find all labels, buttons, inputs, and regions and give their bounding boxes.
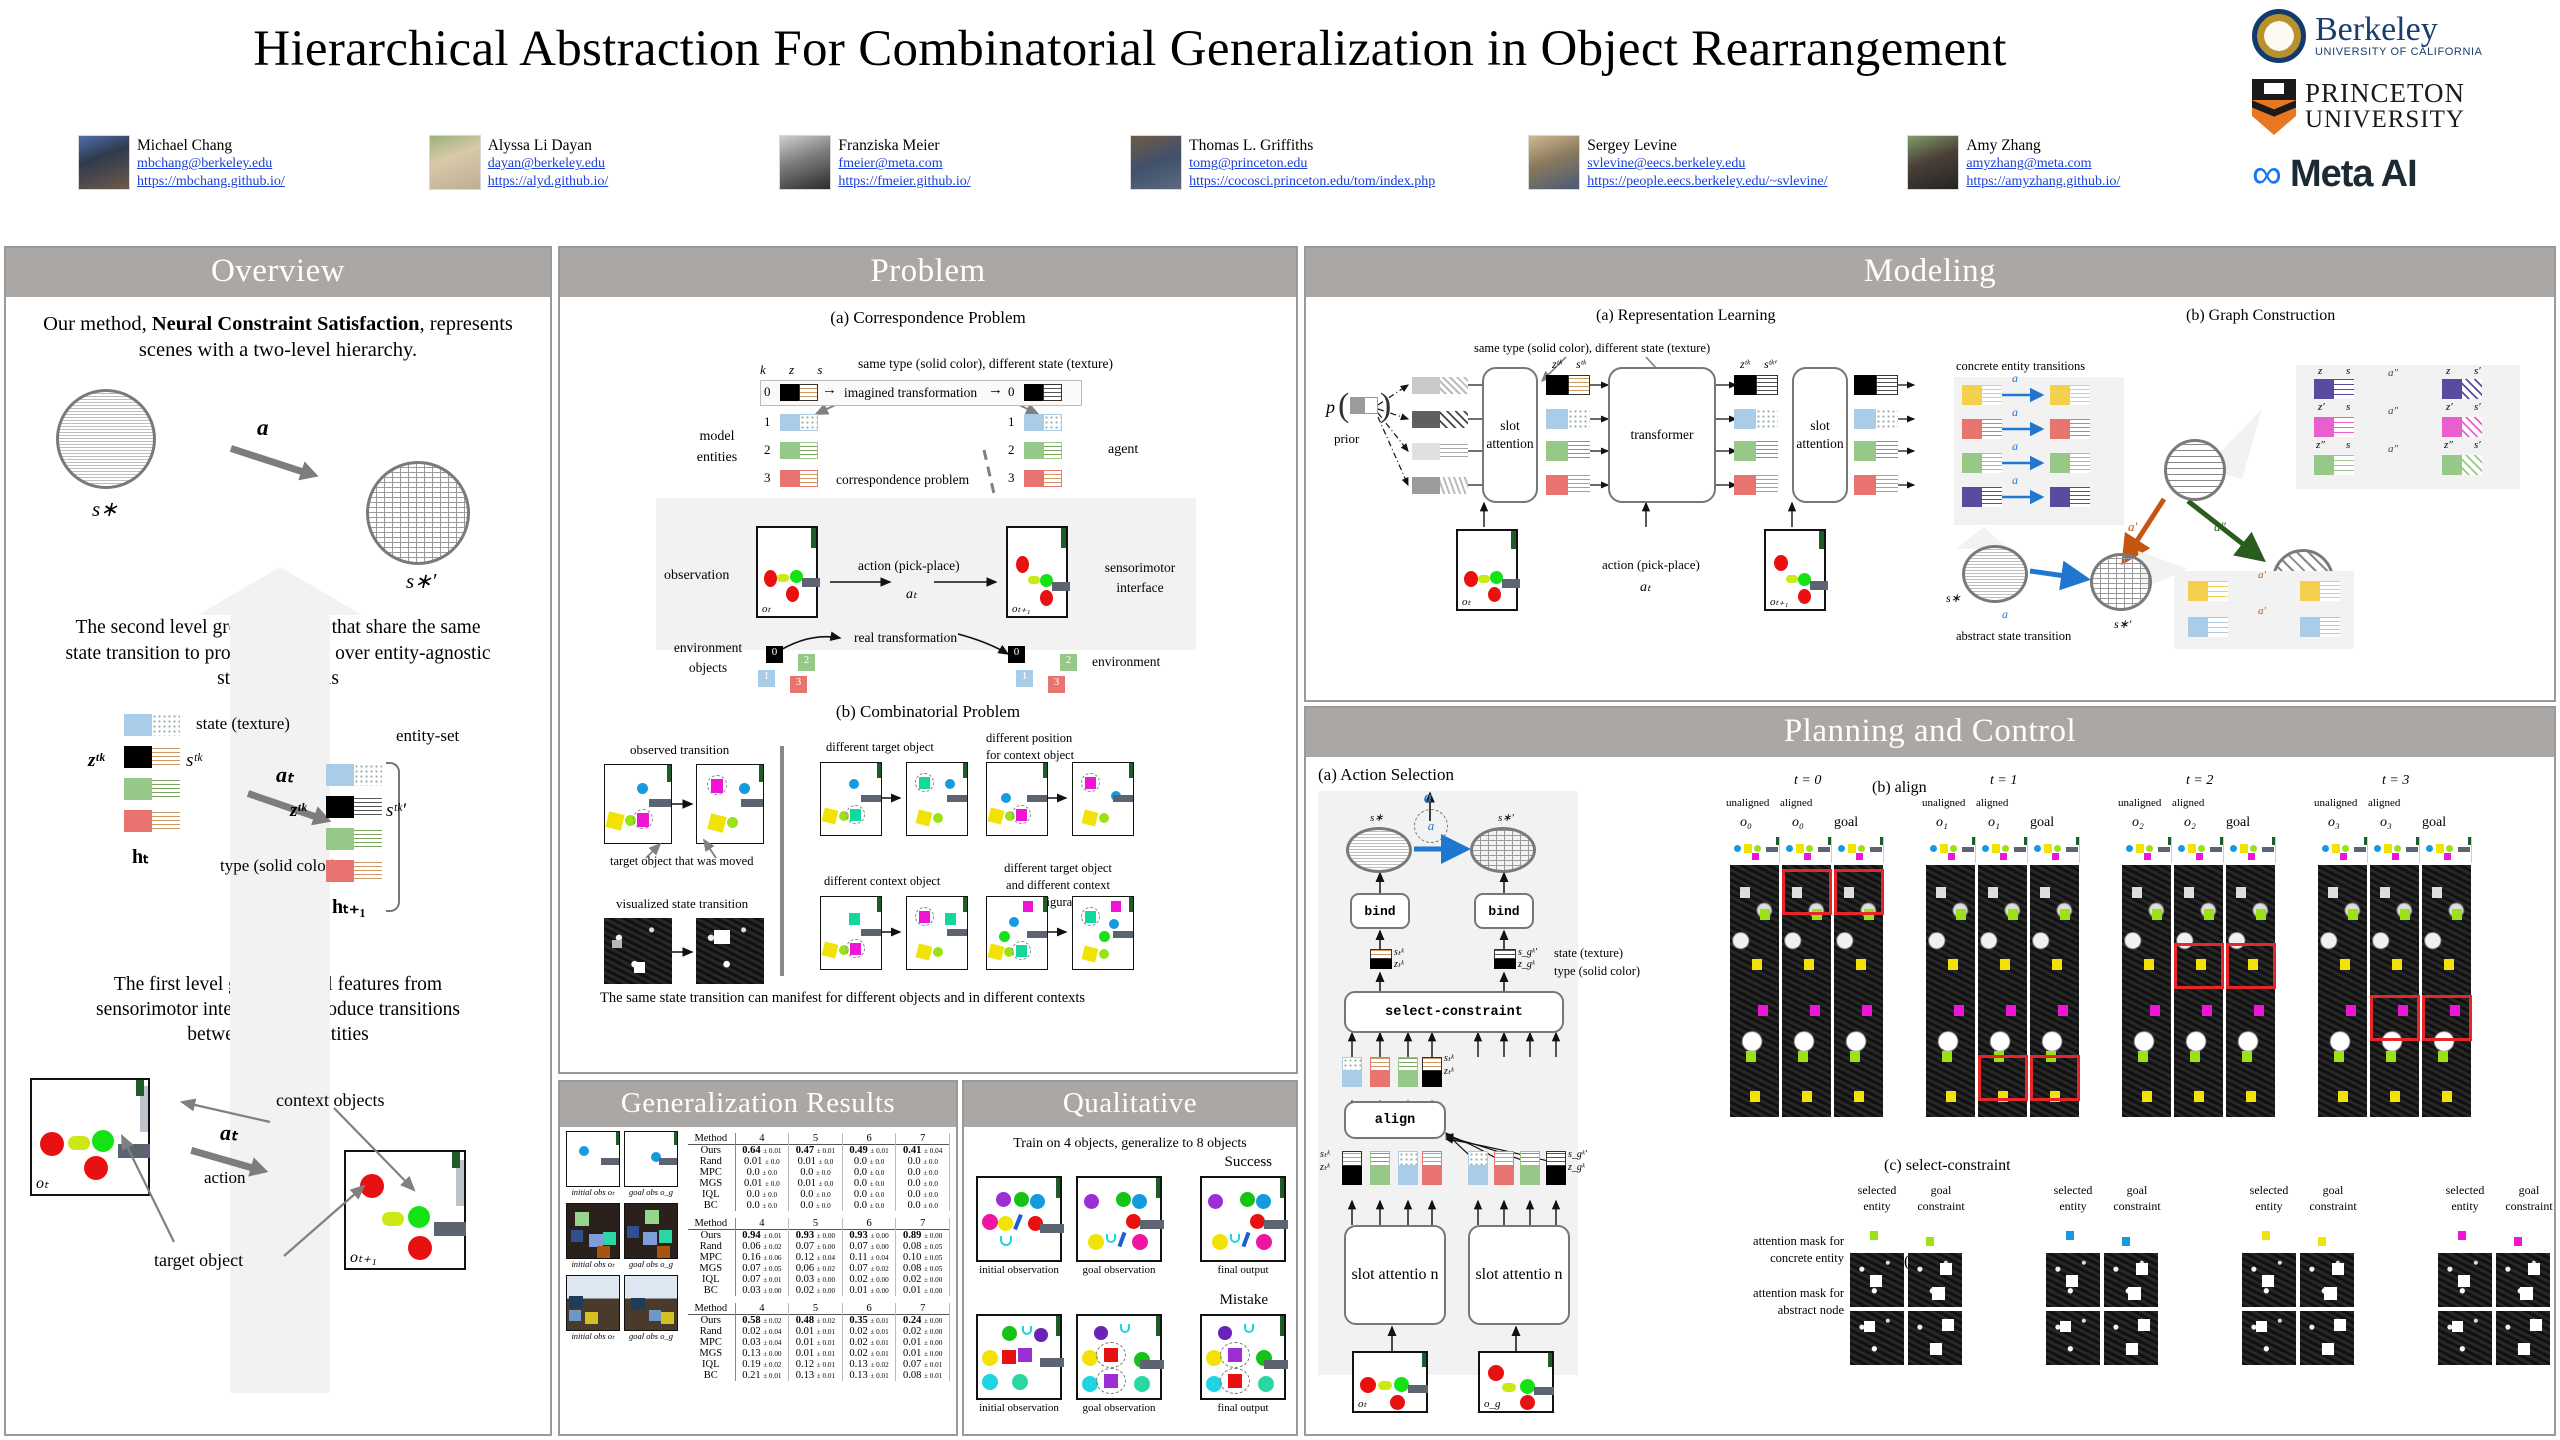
author-email-link[interactable]: fmeier@meta.com xyxy=(838,155,970,173)
object-red xyxy=(1774,555,1788,571)
scene-mistake-final xyxy=(1200,1314,1286,1400)
entity-chip-green-m3 xyxy=(1854,441,1898,461)
mini-scene-selected xyxy=(2242,1227,2296,1249)
scene-success-initial xyxy=(976,1176,1062,1262)
module-slot-attention-plan-1: slot attentio n xyxy=(1344,1225,1446,1325)
object-blue xyxy=(849,779,859,789)
mask-abstract-selected xyxy=(1850,1311,1904,1365)
cell-value: 0.93 ± 0.00 xyxy=(789,1230,843,1242)
author-list: Michael Chang mbchang@berkeley.edu https… xyxy=(78,135,2258,191)
entity-chip-red-m3 xyxy=(1854,475,1898,495)
label-s-star-plan: s∗ xyxy=(1370,811,1384,824)
label-z-g-k: z_gᵏ xyxy=(1518,959,1537,971)
scene-marker xyxy=(1548,1353,1552,1367)
table-row: BC0.21 ± 0.010.13 ± 0.010.13 ± 0.010.08 … xyxy=(688,1370,950,1381)
abstract-state-circle-s-prime xyxy=(366,461,470,565)
scene-marker xyxy=(1129,897,1133,912)
object-yellow xyxy=(707,813,726,832)
variant-arrow xyxy=(882,926,906,938)
table-row: MGS0.13 ± 0.000.01 ± 0.010.02 ± 0.010.01… xyxy=(688,1348,950,1359)
entity-chip-green-right xyxy=(326,828,382,850)
entity-chip-blue-left xyxy=(124,714,180,736)
author-entry: Thomas L. Griffiths tomg@princeton.edu h… xyxy=(1130,135,1528,191)
cell-method: Rand xyxy=(688,1156,735,1167)
scene-marker xyxy=(1056,1178,1060,1198)
module-bind-2: bind xyxy=(1474,893,1534,929)
attention-mask-column xyxy=(1730,865,1780,1117)
scene-variant-2b xyxy=(1072,762,1134,836)
cell-value: 0.0 ± 0.0 xyxy=(842,1167,896,1178)
node-s-star-planning xyxy=(1346,827,1412,873)
label-s-star-prime-graph: s∗′ xyxy=(2114,617,2131,632)
scene-observed-before xyxy=(604,764,672,844)
label-selected-entity: selectedentity xyxy=(2438,1183,2492,1214)
cell-value: 0.12 ± 0.01 xyxy=(789,1359,843,1370)
label-timestep: t = 3 xyxy=(2382,773,2409,789)
object-cyan-hook xyxy=(1000,1236,1012,1246)
highlight-box-aligned[interactable] xyxy=(2370,995,2420,1041)
cell-method: MPC xyxy=(688,1337,735,1348)
cell-value: 0.03 ± 0.00 xyxy=(735,1285,789,1296)
block-teal xyxy=(659,1230,672,1243)
cell-value: 0.94 ± 0.01 xyxy=(735,1230,789,1242)
avatar xyxy=(1528,135,1580,190)
label-obs-index-aligned: o₁ xyxy=(1988,815,2000,831)
scene-marker xyxy=(877,897,881,912)
cell-value: 0.13 ± 0.01 xyxy=(842,1370,896,1381)
table-row: MGS0.01 ± 0.00.01 ± 0.00.0 ± 0.00.0 ± 0.… xyxy=(688,1178,950,1189)
author-website-link[interactable]: https://fmeier.github.io/ xyxy=(838,173,970,191)
overview-intro: Our method, Neural Constraint Satisfacti… xyxy=(28,311,528,363)
label-z-1: z xyxy=(2318,365,2322,377)
object-green xyxy=(1240,1192,1255,1207)
object-magenta xyxy=(1023,901,1033,912)
dprime-green-src xyxy=(2314,455,2354,475)
entity-tile-green-c xyxy=(1520,1151,1540,1185)
label-state-texture-plan: state (texture) xyxy=(1554,945,1640,963)
results-table-1: Method4567Ours0.94 ± 0.010.93 ± 0.000.93… xyxy=(688,1218,950,1296)
cell-value: 0.41 ± 0.04 xyxy=(896,1145,950,1157)
scene-mistake-goal xyxy=(1076,1314,1162,1400)
author-name: Alyssa Li Dayan xyxy=(488,136,609,155)
cell-value: 0.02 ± 0.01 xyxy=(842,1348,896,1359)
label-z-t-k-left: zᵗᵏ xyxy=(88,750,104,772)
label-environment: environment xyxy=(1092,654,1160,670)
object-blue xyxy=(739,783,750,794)
label-s-t-k-plan: sₜᵏ xyxy=(1394,947,1404,959)
cell-value: 0.0 ± 0.0 xyxy=(789,1189,843,1200)
node-s-star-prime-planning xyxy=(1470,827,1536,873)
mask-abstract-goal xyxy=(2496,1311,2550,1365)
table-row: Ours0.64 ± 0.010.47 ± 0.010.49 ± 0.010.4… xyxy=(688,1145,950,1157)
scene-variant-1b xyxy=(906,762,968,836)
highlight-circle xyxy=(1081,907,1100,926)
variant-arrow xyxy=(882,792,906,804)
label-z-t-k-plan: zₜᵏ xyxy=(1394,959,1404,971)
cell-value: 0.02 ± 0.00 xyxy=(896,1274,950,1285)
author-website-link[interactable]: https://people.eecs.berkeley.edu/~svlevi… xyxy=(1587,173,1827,191)
label-a-prime-1: a′ xyxy=(2258,569,2266,581)
cell-value: 0.0 ± 0.0 xyxy=(735,1200,789,1211)
scene-marker xyxy=(1280,1316,1284,1336)
mask-concrete-goal xyxy=(2496,1253,2550,1307)
author-email-link[interactable]: amyzhang@meta.com xyxy=(1966,155,2120,173)
table-row: IQL0.0 ± 0.00.0 ± 0.00.0 ± 0.00.0 ± 0.0 xyxy=(688,1189,950,1200)
label-s-prime-3: s′ xyxy=(2474,439,2481,451)
robot-arm xyxy=(1040,1224,1064,1233)
author-email-link[interactable]: mbchang@berkeley.edu xyxy=(137,155,285,173)
object-red xyxy=(1488,1365,1504,1381)
label-s-prime-1: s′ xyxy=(2474,365,2481,377)
panel-title-planning: Planning and Control xyxy=(1306,708,2554,757)
highlight-box-goal[interactable] xyxy=(2030,1055,2080,1101)
transition-yellow-src xyxy=(1962,385,2002,405)
env-object-0-left: 0 xyxy=(766,646,783,663)
scene-mistake-initial xyxy=(976,1314,1062,1400)
label-unaligned: unaligned xyxy=(1922,797,1965,809)
cell-method: BC xyxy=(688,1200,735,1211)
label-prior: prior xyxy=(1334,431,1359,447)
label-aligned: aligned xyxy=(1976,797,2008,809)
caption-representation-learning: (a) Representation Learning xyxy=(1596,307,1775,325)
table-header: 6 xyxy=(842,1133,896,1145)
object-red xyxy=(1016,556,1029,573)
object-purple xyxy=(1094,1326,1108,1340)
table-header: 5 xyxy=(789,1303,843,1315)
label-timestep: t = 1 xyxy=(1990,773,2017,789)
scene-marker xyxy=(1156,1316,1160,1336)
author-name: Michael Chang xyxy=(137,136,285,155)
scene-variant-4a xyxy=(986,896,1048,970)
entity-tile-black-b xyxy=(1342,1151,1362,1185)
label-real-transformation: real transformation xyxy=(854,630,957,646)
cell-value: 0.07 ± 0.00 xyxy=(789,1241,843,1252)
state-map-after xyxy=(696,918,764,984)
entity-chip-black-left xyxy=(124,746,180,768)
label-obs-index-aligned: o₀ xyxy=(1792,815,1804,831)
object-red xyxy=(1360,1377,1376,1393)
object-blue xyxy=(579,1146,589,1156)
label-type-solid: type (solid color) xyxy=(220,856,337,876)
scene-marker xyxy=(1129,763,1133,778)
object-red xyxy=(1126,1214,1141,1229)
label-goal-observation-1: goal observation xyxy=(1076,1264,1162,1276)
label-s-z-t-k-2: sₜᵏ zₜᵏ xyxy=(1444,1053,1454,1078)
entity-chip-black-m3 xyxy=(1854,375,1898,395)
label-a-trans-1: a xyxy=(2012,371,2018,386)
entity-chip-red-m2 xyxy=(1734,475,1778,495)
label-interface: interface xyxy=(1090,578,1190,598)
results-table-2: Method4567Ours0.58 ± 0.020.48 ± 0.020.35… xyxy=(688,1303,950,1381)
cell-value: 0.93 ± 0.00 xyxy=(842,1230,896,1242)
highlight-box-aligned[interactable] xyxy=(2174,943,2224,989)
results-tables: Method4567Ours0.64 ± 0.010.47 ± 0.010.49… xyxy=(688,1131,950,1429)
env-object-2-left: 2 xyxy=(798,654,815,671)
meta-infinity-icon: ∞ xyxy=(2252,153,2282,195)
object-blue xyxy=(945,779,955,789)
object-green xyxy=(999,931,1010,942)
mini-scene xyxy=(1730,837,1780,863)
caption-combinatorial-footer: The same state transition can manifest f… xyxy=(600,990,1085,1007)
highlight-circle xyxy=(1096,1368,1126,1394)
env-object-2-right: 2 xyxy=(1060,654,1077,671)
object-cyan-hook xyxy=(1120,1324,1130,1333)
state-blob xyxy=(714,930,730,944)
cell-value: 0.48 ± 0.02 xyxy=(789,1315,843,1327)
cell-value: 0.03 ± 0.04 xyxy=(735,1337,789,1348)
highlight-circle xyxy=(915,773,934,792)
module-select-constraint: select-constraint xyxy=(1344,991,1564,1033)
label-s-t-kp-modeling: sᵗᵏ′ xyxy=(1764,357,1777,372)
label-unaligned: unaligned xyxy=(2118,797,2161,809)
label-goal-constraint: goalconstraint xyxy=(1908,1183,1974,1214)
env-object-0-right: 0 xyxy=(1008,646,1025,663)
dprime-purple-dst xyxy=(2442,379,2482,399)
cell-value: 0.10 ± 0.05 xyxy=(896,1252,950,1263)
cell-value: 0.07 ± 0.00 xyxy=(842,1241,896,1252)
cell-value: 0.07 ± 0.01 xyxy=(896,1359,950,1370)
cell-value: 0.58 ± 0.02 xyxy=(735,1315,789,1327)
scene-marker xyxy=(877,763,881,778)
label-success: Success xyxy=(1225,1154,1273,1171)
label-z-prime-2: z′ xyxy=(2446,401,2453,413)
dprime-magenta-src xyxy=(2314,417,2354,437)
highlight-box-aligned[interactable] xyxy=(1978,1055,2028,1101)
label-s-1: s xyxy=(2346,365,2350,377)
label-s-g-kp: s_gᵏ′ xyxy=(1518,947,1537,959)
action-arrow-a-t xyxy=(247,790,319,821)
label-unaligned: unaligned xyxy=(2314,797,2357,809)
author-email-link[interactable]: dayan@berkeley.edu xyxy=(488,155,609,173)
scene-observed-after xyxy=(696,764,764,844)
object-lime xyxy=(1099,949,1109,959)
scene-marker xyxy=(1061,528,1066,548)
avatar xyxy=(429,135,481,190)
label-a-t-modeling: aₜ xyxy=(1640,579,1651,596)
entity-chip-black-m2 xyxy=(1734,375,1778,395)
object-teal xyxy=(945,913,956,925)
label-goal: goal xyxy=(2226,815,2250,831)
author-email-link[interactable]: svlevine@eecs.berkeley.edu xyxy=(1587,155,1827,173)
cell-value: 0.01 ± 0.0 xyxy=(789,1156,843,1167)
cell-value: 0.0 ± 0.0 xyxy=(789,1167,843,1178)
object-teal xyxy=(1012,1374,1028,1390)
label-initial-observation-1: initial observation xyxy=(976,1264,1062,1276)
env-object-1-left: 1 xyxy=(758,670,775,687)
label-obs-index: o₂ xyxy=(2132,815,2144,831)
object-cyan-hook xyxy=(1022,1326,1032,1335)
author-website-link[interactable]: https://mbchang.github.io/ xyxy=(137,173,285,191)
highlight-circle xyxy=(1012,805,1031,824)
poster-header: Hierarchical Abstraction For Combinatori… xyxy=(0,0,2560,240)
label-selected-entity: selectedentity xyxy=(2242,1183,2296,1214)
block-orange xyxy=(597,1246,610,1258)
label-aligned: aligned xyxy=(1780,797,1812,809)
scene-marker xyxy=(759,765,763,782)
panel-problem: Problem (a) Correspondence Problem k z s… xyxy=(558,246,1298,1074)
object-blue xyxy=(1009,917,1019,927)
avatar xyxy=(1907,135,1959,190)
label-goal-obs-2: goal obs o_g xyxy=(624,1259,678,1270)
object-blue xyxy=(1132,1194,1147,1209)
highlight-circle xyxy=(846,805,865,824)
stacked-chip-1 xyxy=(1370,949,1392,969)
label-z-prime-1: z′ xyxy=(2318,401,2325,413)
object-red-2 xyxy=(1040,590,1053,606)
label-a-prime-2: a′ xyxy=(2258,605,2266,617)
author-email-link[interactable]: tomg@princeton.edu xyxy=(1189,155,1435,173)
highlight-box-goal[interactable] xyxy=(2226,943,2276,989)
meta-ai-logo: ∞ Meta AI xyxy=(2252,144,2542,204)
cell-value: 0.03 ± 0.00 xyxy=(789,1274,843,1285)
cell-value: 0.0 ± 0.0 xyxy=(896,1178,950,1189)
label-goal: goal xyxy=(2422,815,2446,831)
dprime-green-dst xyxy=(2442,455,2482,475)
object-green xyxy=(1394,1377,1409,1392)
results-table-0: Method4567Ours0.64 ± 0.010.47 ± 0.010.49… xyxy=(688,1133,950,1211)
robot-arm xyxy=(741,799,763,807)
label-a-dprime-3: a″ xyxy=(2388,443,2398,455)
highlight-circle xyxy=(1220,1342,1250,1368)
entity-chip-blue-m1 xyxy=(1546,409,1590,429)
scene-variant-3b xyxy=(906,896,968,970)
scene-goal-obs-2 xyxy=(624,1203,678,1259)
object-magenta xyxy=(1132,1234,1148,1250)
robot-arm xyxy=(1810,581,1828,590)
label-z-t-k-modeling: zᵗᵏ xyxy=(1552,357,1562,372)
label-z-t-k-modeling-2: zᵗᵏ xyxy=(1740,357,1750,372)
label-z-g-k-2: z_gᵏ xyxy=(1568,1162,1587,1175)
mini-scene-goal xyxy=(2496,1227,2550,1249)
highlight-circle xyxy=(1081,773,1100,792)
module-bind-1: bind xyxy=(1350,893,1410,929)
table-header: Method xyxy=(688,1218,735,1230)
cell-value: 0.12 ± 0.04 xyxy=(789,1252,843,1263)
table-row: Ours0.58 ± 0.020.48 ± 0.020.35 ± 0.010.2… xyxy=(688,1315,950,1327)
cell-method: MGS xyxy=(688,1263,735,1274)
label-final-output-2: final output xyxy=(1200,1402,1286,1414)
label-aligned: aligned xyxy=(2368,797,2400,809)
label-different-target-object: different target object xyxy=(826,740,934,755)
label-goal-constraint: goalconstraint xyxy=(2104,1183,2170,1214)
object-blue xyxy=(637,783,648,794)
table-header: 4 xyxy=(735,1303,789,1315)
object-cyan xyxy=(982,1374,998,1390)
variant-arrow xyxy=(1048,792,1072,804)
panel-overview: Overview Our method, Neural Constraint S… xyxy=(4,246,552,1436)
highlight-box-goal[interactable] xyxy=(2422,995,2472,1041)
panel-title-problem: Problem xyxy=(560,248,1296,297)
object-teal xyxy=(1258,1376,1274,1392)
table-header: 5 xyxy=(789,1218,843,1230)
transition-green-src xyxy=(1962,453,2002,473)
module-align: align xyxy=(1344,1101,1446,1139)
label-observed-transition: observed transition xyxy=(630,742,729,758)
node-s-star xyxy=(1962,545,2028,603)
paren-open: ( xyxy=(1338,387,1349,425)
label-obs-index-aligned: o₂ xyxy=(2184,815,2196,831)
cell-value: 0.0 ± 0.0 xyxy=(735,1189,789,1200)
label-entity-set: entity-set xyxy=(396,726,459,746)
aprime-yellow-src xyxy=(2188,581,2228,601)
author-website-link[interactable]: https://alyd.github.io/ xyxy=(488,173,609,191)
mini-scene xyxy=(1926,837,1976,863)
author-website-link[interactable]: https://cocosci.princeton.edu/tom/index.… xyxy=(1189,173,1435,191)
scene-variant-3a xyxy=(820,896,882,970)
mini-scene-selected xyxy=(2046,1227,2100,1249)
mask-abstract-selected xyxy=(2438,1311,2492,1365)
robot-arm xyxy=(1027,795,1047,802)
label-a-t: aₜ xyxy=(276,762,294,788)
label-goal-obs-3: goal obs o_g xyxy=(624,1331,678,1342)
stacked-chip-2 xyxy=(1494,949,1516,969)
author-website-link[interactable]: https://amyzhang.github.io/ xyxy=(1966,173,2120,191)
entity-tile-green-b xyxy=(1370,1151,1390,1185)
pickplace-arrows xyxy=(568,330,1292,650)
princeton-logo-subtext: UNIVERSITY xyxy=(2305,107,2465,133)
cell-method: MGS xyxy=(688,1178,735,1189)
label-o-t-modeling: oₜ xyxy=(1462,595,1471,608)
highlight-circle xyxy=(1012,941,1031,960)
table-header: 5 xyxy=(789,1133,843,1145)
node-grid xyxy=(2164,439,2226,501)
entity-chip-blue-right xyxy=(326,764,382,786)
scene-initial-obs-3 xyxy=(566,1275,620,1331)
object-pin xyxy=(1118,1232,1127,1247)
object-magenta xyxy=(982,1214,998,1230)
object-yellow xyxy=(605,811,624,830)
highlight-box-aligned[interactable] xyxy=(1782,869,1832,915)
label-a-dprime-2: a″ xyxy=(2388,405,2398,417)
highlight-box-goal[interactable] xyxy=(1834,869,1884,915)
block-blue xyxy=(649,1310,661,1321)
divider-vertical xyxy=(780,746,784,976)
block-green xyxy=(645,1210,659,1224)
object-teal xyxy=(849,913,860,925)
label-action-pickplace-modeling: action (pick-place) xyxy=(1602,557,1700,573)
avatar xyxy=(78,135,130,190)
cell-value: 0.0 ± 0.0 xyxy=(842,1200,896,1211)
label-unaligned: unaligned xyxy=(1726,797,1769,809)
object-yellow xyxy=(822,808,839,825)
object-cyan-hook xyxy=(1106,1234,1116,1243)
label-o-g-plan: o_g xyxy=(1484,1398,1501,1410)
berkeley-logo-subtext: UNIVERSITY OF CALIFORNIA xyxy=(2315,46,2483,58)
robot-arm xyxy=(1040,1358,1064,1367)
table-row: Ours0.94 ± 0.010.93 ± 0.000.93 ± 0.000.8… xyxy=(688,1230,950,1242)
block-blue xyxy=(571,1230,583,1242)
mask-abstract-selected xyxy=(2046,1311,2100,1365)
cell-value: 0.02 ± 0.04 xyxy=(735,1326,789,1337)
attention-mask-column xyxy=(2370,865,2420,1117)
label-s-star-prime: s∗′ xyxy=(406,569,436,594)
caption-correspondence-problem: (a) Correspondence Problem xyxy=(568,308,1288,328)
mask-concrete-selected xyxy=(2046,1253,2100,1307)
object-yellow xyxy=(1212,1234,1228,1250)
author-name: Amy Zhang xyxy=(1966,136,2120,155)
label-diff-both-1: different target object xyxy=(978,860,1138,877)
object-red-2 xyxy=(1798,589,1811,604)
cell-value: 0.19 ± 0.02 xyxy=(735,1359,789,1370)
entity-chip-red-right xyxy=(326,860,382,882)
cell-value: 0.0 ± 0.0 xyxy=(842,1189,896,1200)
object-lime xyxy=(1099,813,1109,823)
object-red xyxy=(1464,571,1478,587)
panel-modeling: Modeling (a) Representation Learning (b)… xyxy=(1304,246,2556,702)
label-s-z-g-k: s_gᵏ′ z_gᵏ xyxy=(1518,947,1537,971)
label-diff-position-1: different position xyxy=(986,730,1074,747)
cell-value: 0.08 ± 0.01 xyxy=(896,1370,950,1381)
